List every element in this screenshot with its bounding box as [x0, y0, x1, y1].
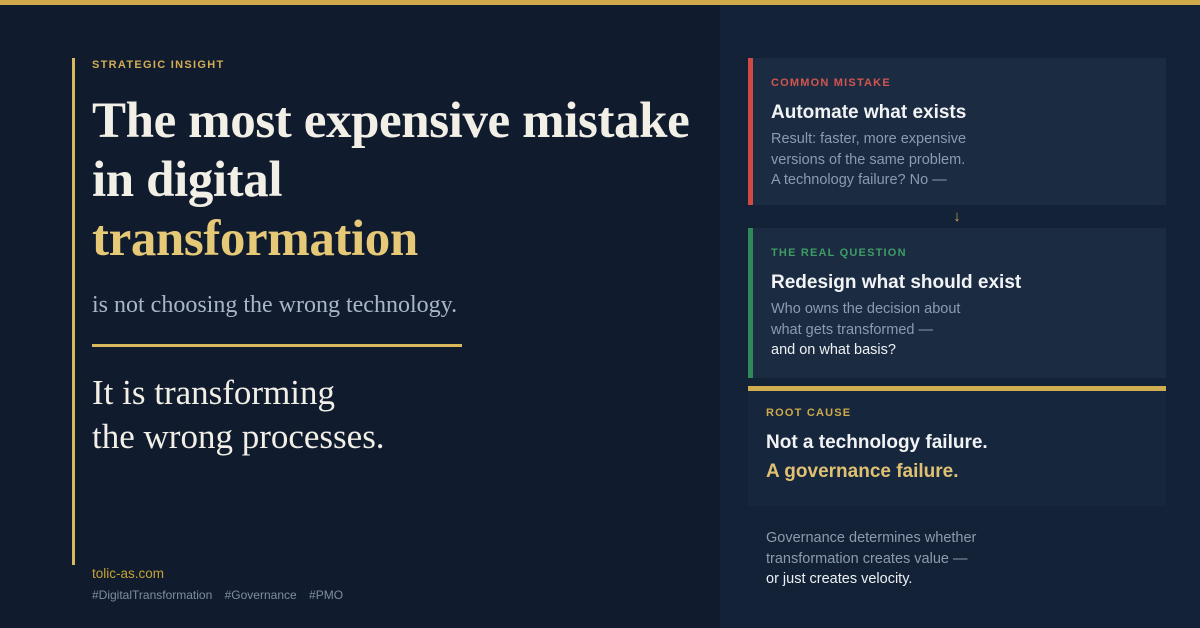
- card-common-mistake: COMMON MISTAKE Automate what exists Resu…: [748, 58, 1166, 205]
- statement-line-2: the wrong processes.: [92, 415, 692, 459]
- card-body-line: Who owns the decision about: [771, 299, 1146, 320]
- footer-hashtags: #DigitalTransformation #Governance #PMO: [92, 586, 352, 604]
- card-body-line: Governance determines whether: [766, 528, 1148, 549]
- hashtag-item: #Governance: [225, 588, 297, 602]
- footer-website-link[interactable]: tolic-as.com: [92, 565, 352, 583]
- hero-content: STRATEGIC INSIGHT The most expensive mis…: [92, 58, 692, 459]
- card-body-line: Result: faster, more expensive: [771, 129, 1146, 150]
- statement-line-1: It is transforming: [92, 371, 692, 415]
- hero-divider: [92, 344, 462, 347]
- card-body-line: transformation creates value —: [766, 549, 1148, 570]
- hero-accent-bar: [72, 58, 75, 565]
- slide-canvas: STRATEGIC INSIGHT The most expensive mis…: [0, 0, 1200, 628]
- card-body: Who owns the decision about what gets tr…: [771, 299, 1146, 361]
- page-title: The most expensive mistake in digital tr…: [92, 92, 692, 269]
- card-root-cause: ROOT CAUSE Not a technology failure. A g…: [748, 386, 1166, 590]
- card-title-line-2: A governance failure.: [766, 459, 1148, 484]
- hero-subline: is not choosing the wrong technology.: [92, 290, 692, 320]
- card-body-line: A technology failure? No —: [771, 170, 1146, 191]
- card-body-line-emphasis: and on what basis?: [771, 340, 1146, 361]
- card-body: Result: faster, more expensive versions …: [771, 129, 1146, 191]
- hero-panel: STRATEGIC INSIGHT The most expensive mis…: [0, 5, 720, 628]
- hashtag-item: #DigitalTransformation: [92, 588, 212, 602]
- flow-arrow-down-icon: ↓: [748, 208, 1166, 226]
- card-body-line: versions of the same problem.: [771, 150, 1146, 171]
- headline-line-1: The most expensive: [92, 93, 510, 149]
- card-title: Automate what exists: [771, 100, 1146, 125]
- card-root-cause-header: ROOT CAUSE Not a technology failure. A g…: [748, 391, 1166, 506]
- card-title: Redesign what should exist: [771, 270, 1146, 295]
- card-eyebrow: ROOT CAUSE: [766, 406, 1148, 420]
- hashtag-item: #PMO: [309, 588, 343, 602]
- card-eyebrow: COMMON MISTAKE: [771, 76, 1146, 90]
- footer: tolic-as.com #DigitalTransformation #Gov…: [92, 565, 352, 604]
- card-body-line: what gets transformed —: [771, 320, 1146, 341]
- hero-statement: It is transforming the wrong processes.: [92, 371, 692, 459]
- insight-panel: COMMON MISTAKE Automate what exists Resu…: [720, 5, 1200, 628]
- card-eyebrow: THE REAL QUESTION: [771, 246, 1146, 260]
- card-title-line-1: Not a technology failure.: [766, 430, 1148, 455]
- card-real-question: THE REAL QUESTION Redesign what should e…: [748, 228, 1166, 378]
- card-root-cause-body: Governance determines whether transforma…: [748, 506, 1166, 590]
- hero-eyebrow: STRATEGIC INSIGHT: [92, 58, 692, 72]
- card-body-line-emphasis: or just creates velocity.: [766, 569, 1148, 590]
- headline-highlight: transformation: [92, 210, 692, 269]
